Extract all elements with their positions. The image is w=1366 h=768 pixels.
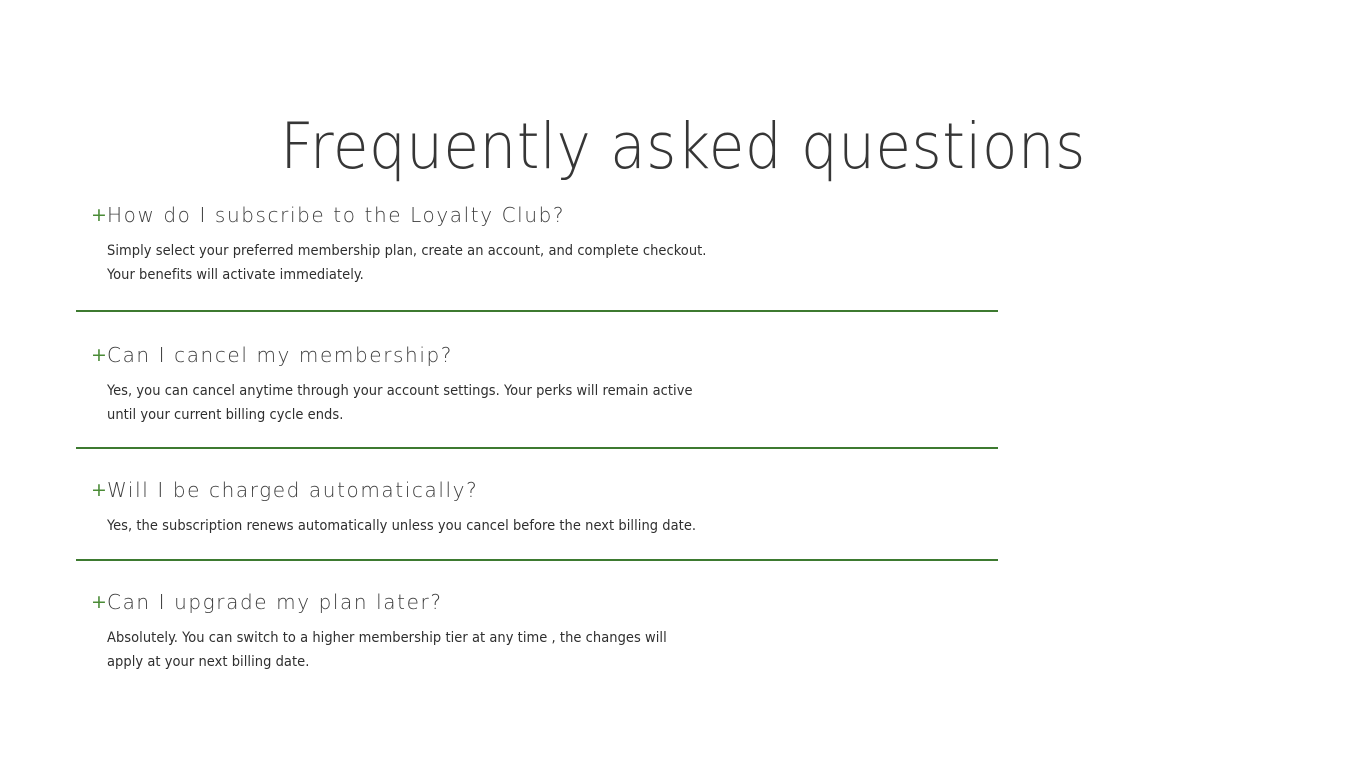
spacer — [76, 287, 998, 310]
faq-item-content: Will I be charged automatically? Yes, th… — [107, 475, 998, 538]
faq-slide: Frequently asked questions + How do I su… — [0, 0, 1366, 768]
faq-answer: Absolutely. You can switch to a higher m… — [107, 626, 707, 674]
faq-question[interactable]: Will I be charged automatically? — [107, 475, 998, 505]
faq-item[interactable]: + How do I subscribe to the Loyalty Club… — [76, 200, 998, 312]
faq-item-content: How do I subscribe to the Loyalty Club? … — [107, 200, 998, 287]
plus-icon[interactable]: + — [76, 475, 107, 505]
faq-item[interactable]: + Can I cancel my membership? Yes, you c… — [76, 340, 998, 449]
faq-accordion: + How do I subscribe to the Loyalty Club… — [76, 200, 998, 674]
plus-icon[interactable]: + — [76, 587, 107, 617]
faq-answer: Simply select your preferred membership … — [107, 239, 707, 287]
faq-item-header[interactable]: + Can I cancel my membership? Yes, you c… — [76, 340, 998, 427]
spacer — [76, 538, 998, 559]
faq-item-header[interactable]: + Can I upgrade my plan later? Absolutel… — [76, 587, 998, 674]
faq-question[interactable]: How do I subscribe to the Loyalty Club? — [107, 200, 998, 230]
plus-icon[interactable]: + — [76, 200, 107, 230]
plus-icon[interactable]: + — [76, 340, 107, 370]
faq-item[interactable]: + Will I be charged automatically? Yes, … — [76, 475, 998, 561]
faq-divider — [76, 310, 998, 312]
faq-answer: Yes, the subscription renews automatical… — [107, 514, 707, 538]
faq-divider — [76, 559, 998, 561]
faq-question[interactable]: Can I cancel my membership? — [107, 340, 998, 370]
faq-question[interactable]: Can I upgrade my plan later? — [107, 587, 998, 617]
faq-item-content: Can I upgrade my plan later? Absolutely.… — [107, 587, 998, 674]
faq-divider — [76, 447, 998, 449]
faq-item[interactable]: + Can I upgrade my plan later? Absolutel… — [76, 587, 998, 674]
faq-item-content: Can I cancel my membership? Yes, you can… — [107, 340, 998, 427]
faq-answer: Yes, you can cancel anytime through your… — [107, 379, 707, 427]
spacer — [76, 427, 998, 447]
faq-item-header[interactable]: + How do I subscribe to the Loyalty Club… — [76, 200, 998, 287]
faq-item-header[interactable]: + Will I be charged automatically? Yes, … — [76, 475, 998, 538]
page-title: Frequently asked questions — [55, 114, 1312, 180]
